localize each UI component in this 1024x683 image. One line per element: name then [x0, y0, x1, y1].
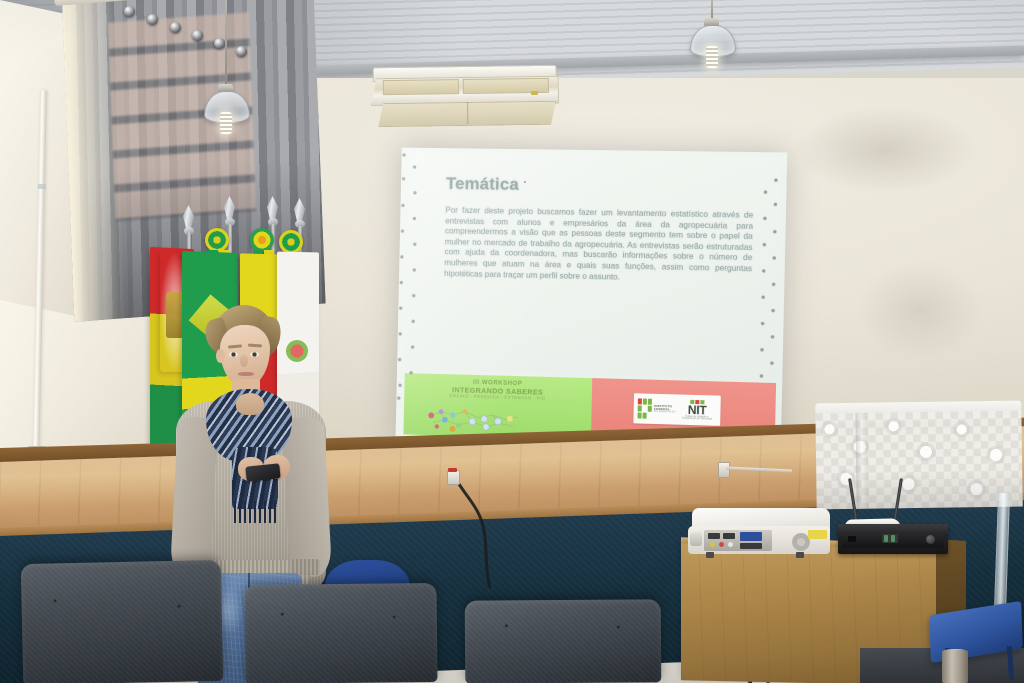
projector-rca-yellow[interactable]	[710, 542, 715, 547]
projector-rca-white[interactable]	[728, 542, 733, 547]
projector-serial-port[interactable]	[740, 543, 762, 549]
auditorium-chair-back[interactable]	[244, 583, 437, 683]
nit-subtitle: Núcleo de Inovação e Transferência de Te…	[678, 416, 716, 421]
projector-foot	[796, 552, 804, 558]
ear	[216, 349, 225, 363]
lace-covered-table[interactable]	[815, 401, 1022, 512]
slide-body-text: Por fazer deste projeto buscamos fazer u…	[444, 206, 753, 286]
eyebrow	[248, 344, 262, 348]
slide-footer-green-panel: III WORKSHOP INTEGRANDO SABERES ENSINO -…	[403, 373, 592, 440]
air-conditioner-vent	[383, 79, 459, 95]
projector-port-panel	[704, 530, 772, 551]
curtain-grommet	[170, 22, 181, 33]
instituto-federal-logo-icon	[637, 398, 652, 419]
eye	[250, 352, 259, 357]
air-conditioner[interactable]	[371, 65, 558, 130]
wall-stain	[760, 90, 1010, 210]
projector-warning-label	[808, 530, 827, 539]
curtain-grommet	[147, 14, 158, 25]
slide-title: Temática	[446, 174, 760, 199]
projection-screen[interactable]: Temática Por fazer deste projeto buscamo…	[395, 148, 787, 454]
projector-foot	[706, 552, 714, 558]
auditorium-photo: Temática Por fazer deste projeto buscamo…	[0, 0, 1024, 683]
projector-lens	[690, 532, 702, 546]
eye	[229, 352, 238, 357]
projector-vga-port[interactable]	[740, 532, 762, 541]
nose	[240, 355, 248, 367]
power-adapter	[447, 470, 460, 485]
pendant-lamp-bulb	[220, 112, 232, 134]
slide-content: Temática Por fazer deste projeto buscamo…	[405, 152, 781, 379]
scarf-neck-opening	[236, 393, 264, 415]
auditorium-chair-back[interactable]	[465, 599, 662, 683]
instituto-federal-wordmark: INSTITUTO FEDERAL Rio Grande do Sul	[654, 404, 678, 414]
eyebrow	[228, 344, 242, 348]
conduit-clip	[38, 184, 46, 189]
instituto-federal-line-2: Rio Grande do Sul	[654, 411, 678, 414]
curtain-grommet	[214, 38, 225, 49]
flag-rosette	[250, 228, 274, 252]
receiver-indicator-icon	[848, 536, 856, 542]
curtain-grommet	[192, 30, 203, 41]
slide-title-text: Temática	[446, 174, 519, 194]
workshop-branding: III WORKSHOP INTEGRANDO SABERES ENSINO -…	[404, 378, 592, 403]
curtain-grommet	[236, 46, 247, 57]
pendant-lamp-bulb	[706, 46, 718, 68]
mouth	[238, 372, 254, 376]
power-adapter-indicator-icon	[448, 468, 457, 472]
scarf-fringe	[234, 501, 278, 523]
pendant-lamp-cord	[225, 0, 227, 88]
air-conditioner-indicator-icon	[531, 91, 538, 95]
lace-shadow	[815, 411, 1022, 510]
flag-rosette	[279, 230, 303, 254]
institutional-logo-block: INSTITUTO FEDERAL Rio Grande do Sul NIT …	[633, 393, 720, 426]
slide-title-dot	[524, 181, 526, 183]
nit-logo: NIT Núcleo de Inovação e Transferência d…	[678, 400, 716, 421]
wall-switch[interactable]	[718, 462, 730, 478]
projector-rca-red[interactable]	[719, 542, 724, 547]
scarf	[206, 389, 292, 519]
auditorium-chair-back[interactable]	[21, 560, 223, 683]
metal-can	[942, 650, 968, 683]
audio-receiver[interactable]	[838, 524, 948, 554]
data-projector[interactable]	[688, 508, 830, 554]
projector-hdmi-port[interactable]	[708, 533, 720, 539]
curtain-grommet	[124, 6, 135, 17]
projector-usb-port[interactable]	[723, 533, 735, 539]
receiver-volume-knob[interactable]	[926, 535, 935, 544]
wall-stain-secondary	[830, 240, 1010, 380]
flag-rosette	[205, 228, 229, 252]
